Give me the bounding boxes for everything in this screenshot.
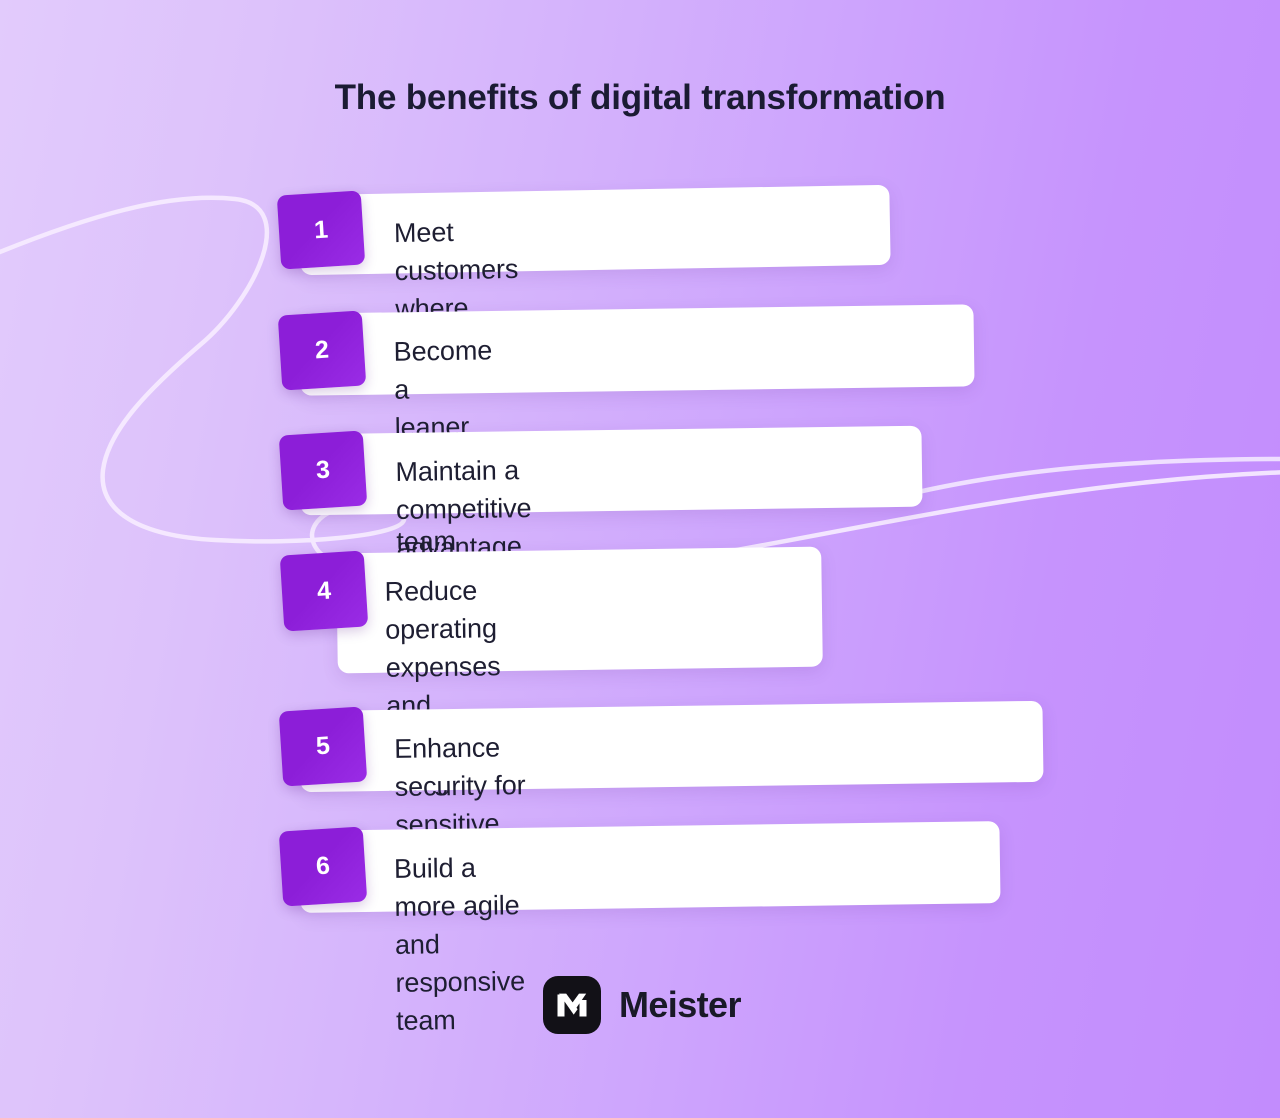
benefit-label: Build a more agile and responsive team — [394, 848, 526, 1040]
infographic-poster: The benefits of digital transformation 1… — [0, 0, 1280, 1118]
benefit-number: 5 — [279, 706, 368, 786]
benefit-number: 1 — [277, 190, 365, 269]
benefit-label: Maintain a competitive advantage — [395, 451, 532, 567]
benefit-number-badge: 6 — [279, 826, 368, 906]
benefit-card — [299, 185, 890, 275]
meister-m-icon — [543, 976, 601, 1034]
benefit-number-badge: 1 — [277, 190, 365, 269]
benefit-number-badge: 4 — [280, 550, 369, 631]
benefit-number: 3 — [279, 430, 368, 510]
benefit-number: 4 — [280, 550, 369, 631]
brand-wordmark: Meister — [619, 984, 741, 1026]
page-title: The benefits of digital transformation — [0, 78, 1280, 118]
benefit-number: 2 — [278, 310, 367, 390]
benefit-number: 6 — [279, 826, 368, 906]
benefit-number-badge: 5 — [279, 706, 368, 786]
benefit-number-badge: 3 — [279, 430, 368, 510]
benefit-card — [299, 426, 922, 516]
brand-logo: Meister — [543, 976, 741, 1034]
benefit-number-badge: 2 — [278, 310, 367, 390]
